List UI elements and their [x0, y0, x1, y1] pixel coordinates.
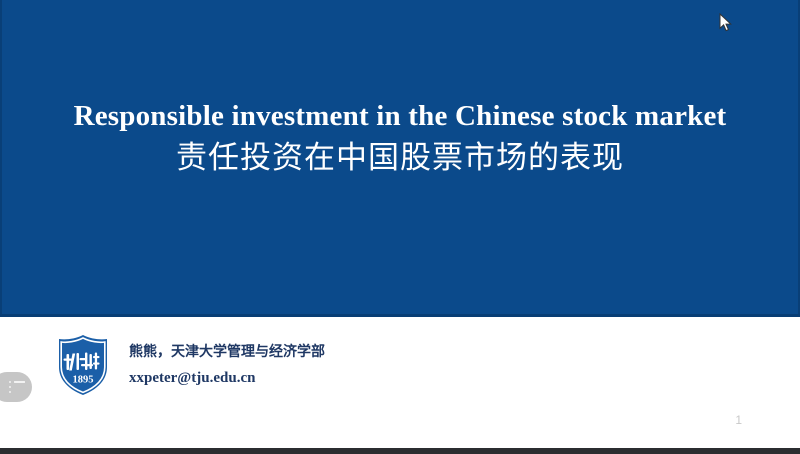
- author-row: 1895 熊熊，天津大学管理与经济学部 xxpeter@tju.edu.cn: [55, 334, 325, 396]
- university-crest-icon: 1895: [55, 334, 111, 396]
- window-bottom-bar: [0, 448, 800, 454]
- author-affiliation: 熊熊，天津大学管理与经济学部: [129, 342, 325, 363]
- author-text-block: 熊熊，天津大学管理与经济学部 xxpeter@tju.edu.cn: [129, 342, 325, 389]
- bulleted-list-icon: [9, 381, 25, 393]
- slide-menu-button[interactable]: [0, 372, 32, 402]
- author-email: xxpeter@tju.edu.cn: [129, 367, 325, 389]
- slide-title-chinese: 责任投资在中国股票市场的表现: [50, 137, 750, 179]
- title-block: Responsible investment in the Chinese st…: [50, 98, 750, 179]
- slide-page-number: 1: [735, 413, 742, 427]
- slide-title-english: Responsible investment in the Chinese st…: [50, 98, 750, 135]
- crest-year-label: 1895: [73, 375, 94, 386]
- presentation-slide: Responsible investment in the Chinese st…: [0, 0, 800, 448]
- title-banner: Responsible investment in the Chinese st…: [0, 0, 800, 317]
- slide-viewer[interactable]: Responsible investment in the Chinese st…: [0, 0, 800, 454]
- slide-footer: 1895 熊熊，天津大学管理与经济学部 xxpeter@tju.edu.cn 1: [0, 317, 800, 448]
